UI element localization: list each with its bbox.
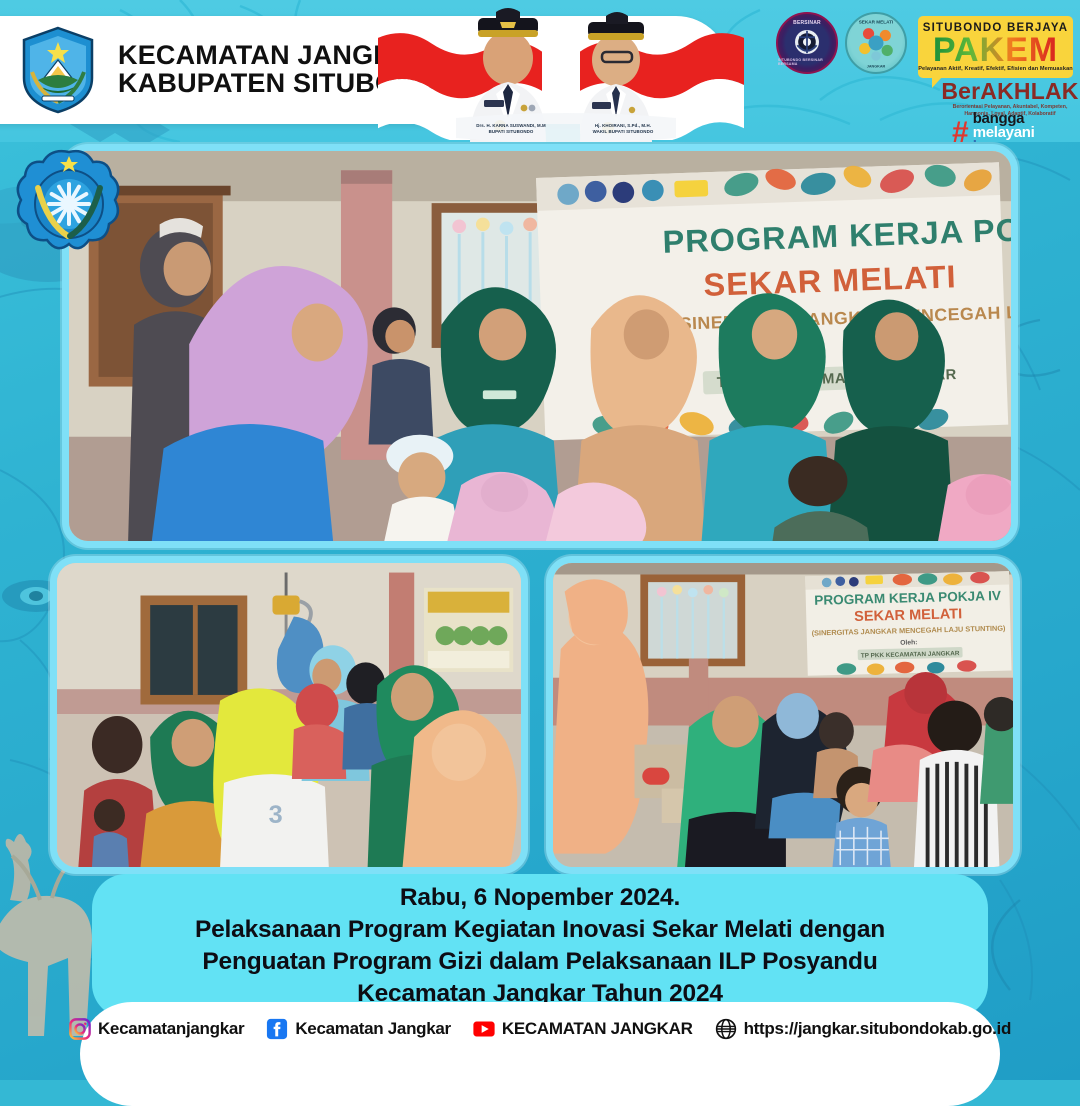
footer-label-youtube: KECAMATAN JANGKAR (502, 1019, 693, 1039)
berakhlak-wordmark: BerAKHLAK (940, 80, 1080, 103)
pakem-logo: SITUBONDO BERJAYA PAKEM Pelayanan Aktif,… (918, 16, 1073, 78)
footer-label-instagram: Kecamatanjangkar (98, 1019, 244, 1039)
footer-label-website: https://jangkar.situbondokab.go.id (744, 1019, 1011, 1039)
svg-text:JANGKAR: JANGKAR (867, 64, 886, 68)
svg-text:3: 3 (269, 801, 283, 829)
bersinar-logo-bottom-text: SITUBONDO BERSINAR BERSAMA (778, 58, 836, 66)
official-left-caption: Drs. H. KARNA SUSWANDI, M.M BUPATI SITUB… (452, 123, 570, 136)
caption-box: Rabu, 6 Nopember 2024. Pelaksanaan Progr… (92, 874, 988, 1018)
svg-text:SEKAR MELATI: SEKAR MELATI (859, 19, 894, 24)
caption-line-1: Rabu, 6 Nopember 2024. (400, 882, 680, 914)
situbondo-regency-crest-icon (20, 26, 96, 114)
bersinar-anchor-icon (791, 26, 823, 58)
footer-item-website[interactable]: https://jangkar.situbondokab.go.id (715, 1018, 1011, 1040)
left-photo-content: 3 (57, 563, 521, 867)
footer-item-youtube[interactable]: KECAMATAN JANGKAR (473, 1018, 693, 1040)
facebook-icon (266, 1018, 288, 1040)
counseling-activity-photo: PROGRAM KERJA POKJA IV SEKAR MELATI (SIN… (546, 556, 1020, 874)
instagram-icon (69, 1018, 91, 1040)
footer-label-facebook: Kecamatan Jangkar (295, 1019, 451, 1039)
social-footer: Kecamatanjangkar Kecamatan Jangkar KECAM… (80, 1002, 1000, 1106)
bersinar-logo-icon: BERSINAR SITUBONDO BERSINAR BERSAMA (776, 12, 838, 74)
caption-line-2: Pelaksanaan Program Kegiatan Inovasi Sek… (195, 914, 885, 946)
sekar-melati-logo-icon: SEKAR MELATI JANGKAR (845, 12, 907, 74)
pakem-subtitle: Pelayanan Aktif, Kreatif, Efektif, Efisi… (918, 66, 1073, 72)
pakem-wordmark: PAKEM (933, 34, 1058, 67)
official-right-caption: Hj. KHOIRANI, S.Pd., M.H. WAKIL BUPATI S… (564, 123, 682, 136)
weighing-activity-photo: 3 (50, 556, 528, 874)
hashtag-icon: # (952, 121, 969, 142)
footer-item-facebook[interactable]: Kecamatan Jangkar (266, 1018, 451, 1040)
right-photo-content: PROGRAM KERJA POKJA IV SEKAR MELATI (SIN… (553, 563, 1013, 867)
main-event-photo: PROGRAM KERJA POKJA IV SEKAR MELATI (SIN… (62, 144, 1018, 548)
officials-portraits (378, 0, 744, 142)
svg-text:SEKAR MELATI: SEKAR MELATI (854, 606, 962, 625)
footer-item-instagram[interactable]: Kecamatanjangkar (69, 1018, 244, 1040)
main-photo-content: PROGRAM KERJA POKJA IV SEKAR MELATI (SIN… (69, 151, 1011, 541)
caption-line-3: Penguatan Program Gizi dalam Pelaksanaan… (202, 946, 877, 978)
youtube-icon (473, 1018, 495, 1040)
pkk-emblem-icon (14, 146, 124, 262)
svg-text:Oleh:: Oleh: (900, 639, 918, 646)
page-header: KECAMATAN JANGKAR KABUPATEN SITUBONDO (0, 0, 1080, 142)
globe-icon (715, 1018, 737, 1040)
sekar-melati-family-icon: SEKAR MELATI JANGKAR (848, 15, 904, 71)
officials-photo-group: Drs. H. KARNA SUSWANDI, M.M BUPATI SITUB… (378, 0, 744, 142)
bangga-melayani-bangsa-logo: # bangga melayani bangsa (952, 112, 1080, 142)
